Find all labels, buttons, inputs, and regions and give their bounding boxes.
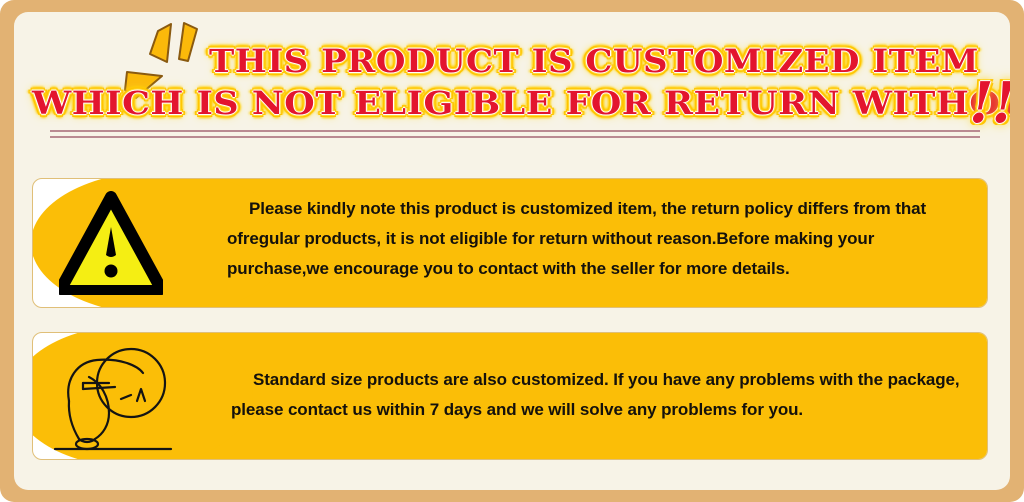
title-line-1: THIS PRODUCT IS CUSTOMIZED ITEM [209,42,979,80]
notice-icon-slot [41,333,191,459]
banner-header: THIS PRODUCT IS CUSTOMIZED ITEM WHICH IS… [14,12,1010,152]
title-exclamation-marks: !! [969,70,1010,136]
title-line-2: WHICH IS NOT ELIGIBLE FOR RETURN WITHOUT… [32,84,1010,122]
divider-line-top [50,130,980,132]
warning-triangle-icon [59,191,163,295]
notice-box-standard-size: Standard size products are also customiz… [32,332,988,460]
notice-text: Standard size products are also customiz… [231,365,975,425]
notice-panel: Please kindly note this product is custo… [161,179,987,307]
banner-title: THIS PRODUCT IS CUSTOMIZED ITEM WHICH IS… [14,12,1010,142]
divider-line-bottom [50,136,980,138]
notice-panel: Standard size products are also customiz… [133,333,987,459]
notice-box-return-policy: Please kindly note this product is custo… [32,178,988,308]
customized-item-notice-banner: THIS PRODUCT IS CUSTOMIZED ITEM WHICH IS… [0,0,1024,502]
notice-text: Please kindly note this product is custo… [227,194,977,284]
notice-icon-slot [45,179,175,307]
desk-lamp-icon [53,339,203,454]
banner-inner-surface: THIS PRODUCT IS CUSTOMIZED ITEM WHICH IS… [14,12,1010,490]
title-divider [50,130,980,140]
